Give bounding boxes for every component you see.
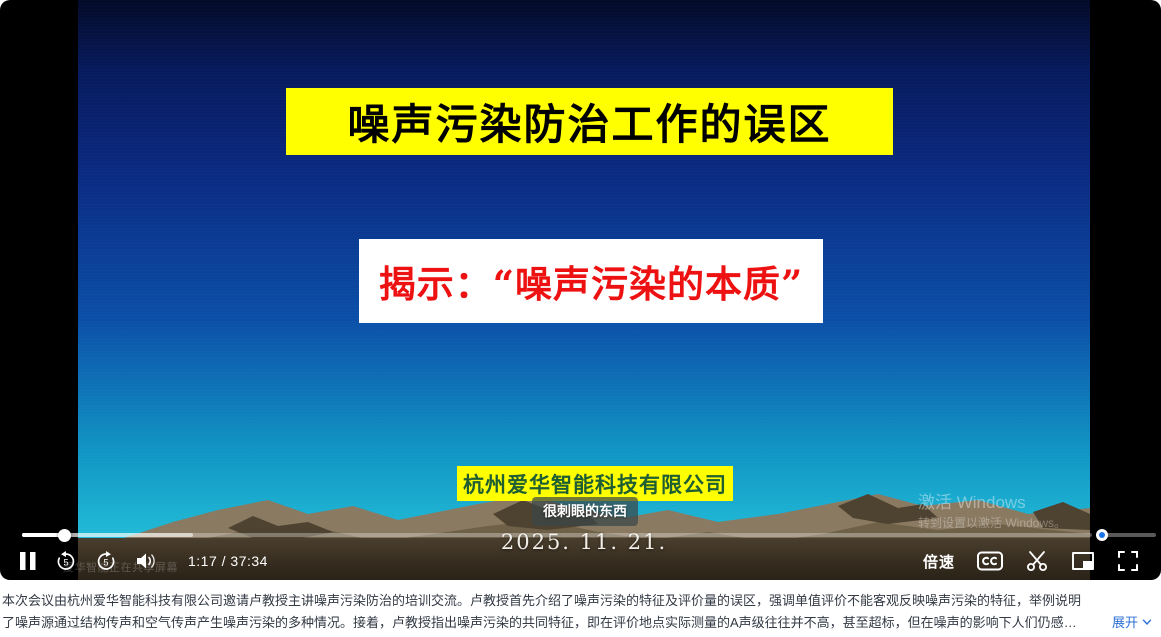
scissors-icon	[1025, 549, 1049, 573]
forward-button[interactable]: 5	[94, 549, 118, 573]
video-description: 本次会议由杭州爱华智能科技有限公司邀请卢教授主讲噪声污染防治的培训交流。卢教授首…	[0, 586, 1161, 637]
slide-company-name: 杭州爱华智能科技有限公司	[463, 469, 727, 499]
player-controls: 5 5 1:17 / 37:34	[0, 542, 1161, 580]
time-display: 1:17 / 37:34	[188, 553, 268, 569]
player-controls-right: 倍速	[923, 549, 1161, 573]
pip-button[interactable]	[1071, 551, 1095, 571]
progress-track[interactable]	[22, 533, 1092, 537]
progress-bar[interactable]	[0, 528, 1161, 542]
forward-5-icon: 5	[94, 549, 118, 573]
picture-in-picture-icon	[1071, 551, 1095, 571]
fullscreen-button[interactable]	[1117, 550, 1139, 572]
pause-icon	[18, 550, 38, 572]
rewind-5-icon: 5	[54, 549, 78, 573]
captions-button[interactable]	[977, 551, 1003, 571]
expand-description-button[interactable]: 展开	[1102, 612, 1153, 631]
player-controls-left: 5 5 1:17 / 37:34	[0, 549, 268, 573]
description-text: 本次会议由杭州爱华智能科技有限公司邀请卢教授主讲噪声污染防治的培训交流。卢教授首…	[2, 590, 1087, 634]
chevron-down-icon	[1141, 616, 1153, 628]
slide-title: 噪声污染防治工作的误区	[347, 91, 831, 152]
video-frame[interactable]: 噪声污染防治工作的误区 揭示：“噪声污染的本质” 杭州爱华智能科技有限公司 很刺…	[78, 0, 1090, 580]
rewind-button[interactable]: 5	[54, 549, 78, 573]
svg-text:5: 5	[103, 558, 108, 568]
clip-button[interactable]	[1025, 549, 1049, 573]
volume-icon	[134, 550, 158, 572]
pause-button[interactable]	[18, 550, 38, 572]
caption-bubble: 很刺眼的东西	[532, 497, 638, 526]
volume-button[interactable]	[134, 550, 158, 572]
playback-speed-button[interactable]: 倍速	[923, 551, 955, 572]
side-slider[interactable]	[1090, 528, 1161, 542]
video-player[interactable]: 噪声污染防治工作的误区 揭示：“噪声污染的本质” 杭州爱华智能科技有限公司 很刺…	[0, 0, 1161, 580]
progress-handle[interactable]	[58, 529, 71, 542]
slide-subtitle: 揭示：“噪声污染的本质”	[379, 254, 804, 308]
cc-icon	[977, 551, 1003, 571]
fullscreen-icon	[1117, 550, 1139, 572]
svg-text:5: 5	[63, 558, 68, 568]
side-slider-handle[interactable]	[1096, 529, 1108, 541]
slide-title-box: 噪声污染防治工作的误区	[286, 88, 893, 155]
slide-subtitle-box: 揭示：“噪声污染的本质”	[359, 239, 823, 323]
expand-description-label: 展开	[1112, 612, 1138, 631]
playback-speed-label: 倍速	[923, 551, 955, 572]
slide-company-box: 杭州爱华智能科技有限公司	[457, 466, 733, 501]
